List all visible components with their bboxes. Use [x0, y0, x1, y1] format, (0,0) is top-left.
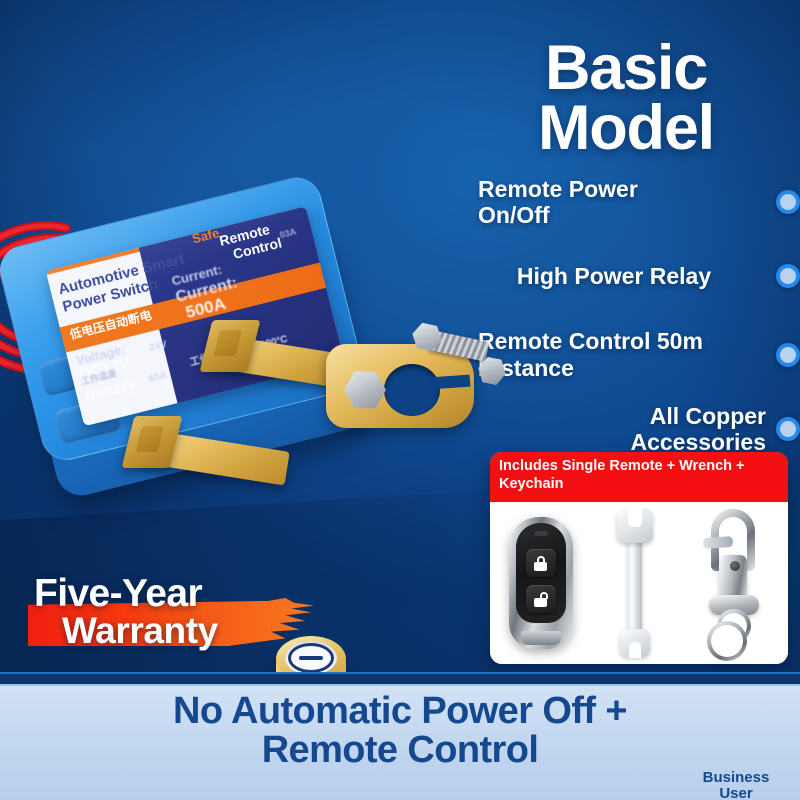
page-title: Basic Model: [452, 38, 800, 159]
fob-face-panel: [516, 523, 566, 623]
bottom-banner-text: No Automatic Power Off + Remote Control: [0, 692, 800, 770]
accessories-items: [490, 502, 788, 664]
bullet-dot-icon: [776, 343, 800, 367]
remote-fob-image: [509, 517, 573, 649]
wrench-head-bottom: [620, 629, 650, 657]
battery-terminal-clamp: [326, 330, 502, 442]
label-safe-tag: Safe: [191, 226, 221, 246]
wrench-shaft: [628, 535, 642, 639]
clamp-ring-hole: [384, 364, 440, 416]
headline-line-2: Model: [452, 98, 800, 158]
bottom-banner-line-1: No Automatic Power Off +: [0, 692, 800, 731]
lock-closed-icon: [534, 556, 547, 571]
product-marketing-image: Basic Model Remote PowerOn/Off High Powe…: [0, 0, 800, 800]
product-image: Automotive Smart Power Switch Safe Remot…: [0, 170, 520, 600]
banner-top-edge: [0, 672, 800, 684]
accessories-header: Includes Single Remote + Wrench + Keycha…: [490, 452, 788, 502]
bottom-banner: No Automatic Power Off + Remote Control …: [0, 684, 800, 800]
wrench-head-top: [617, 509, 653, 543]
bullet-dot-icon: [776, 190, 800, 214]
lock-button: [526, 549, 556, 577]
copper-bracket-assembly: [150, 320, 510, 590]
key-ring-large: [707, 621, 747, 661]
business-user-line-2: User: [690, 786, 782, 800]
accessories-heading-text: Includes Single Remote + Wrench + Keycha…: [499, 457, 779, 493]
accessories-card: Includes Single Remote + Wrench + Keycha…: [490, 452, 788, 664]
lock-open-icon: [534, 592, 547, 607]
fob-led-indicator: [534, 531, 548, 536]
bullet-dot-icon: [776, 264, 800, 288]
business-user-label: Business User: [690, 770, 782, 800]
business-user-line-1: Business: [690, 770, 782, 786]
wrench-jaw-bottom: [629, 642, 641, 658]
unlock-button: [526, 585, 556, 613]
wrench-jaw-top: [628, 508, 642, 527]
warranty-line-2: Warranty: [62, 610, 218, 652]
keychain-image: [697, 509, 769, 657]
warranty-badge: Five-Year Warranty: [28, 572, 328, 664]
wrench-image: [610, 509, 660, 657]
bottom-banner-line-2: Remote Control: [0, 731, 800, 770]
bullet-dot-icon: [776, 417, 800, 441]
fob-base-trim: [521, 631, 561, 645]
clasp-gate-lever: [703, 536, 734, 549]
